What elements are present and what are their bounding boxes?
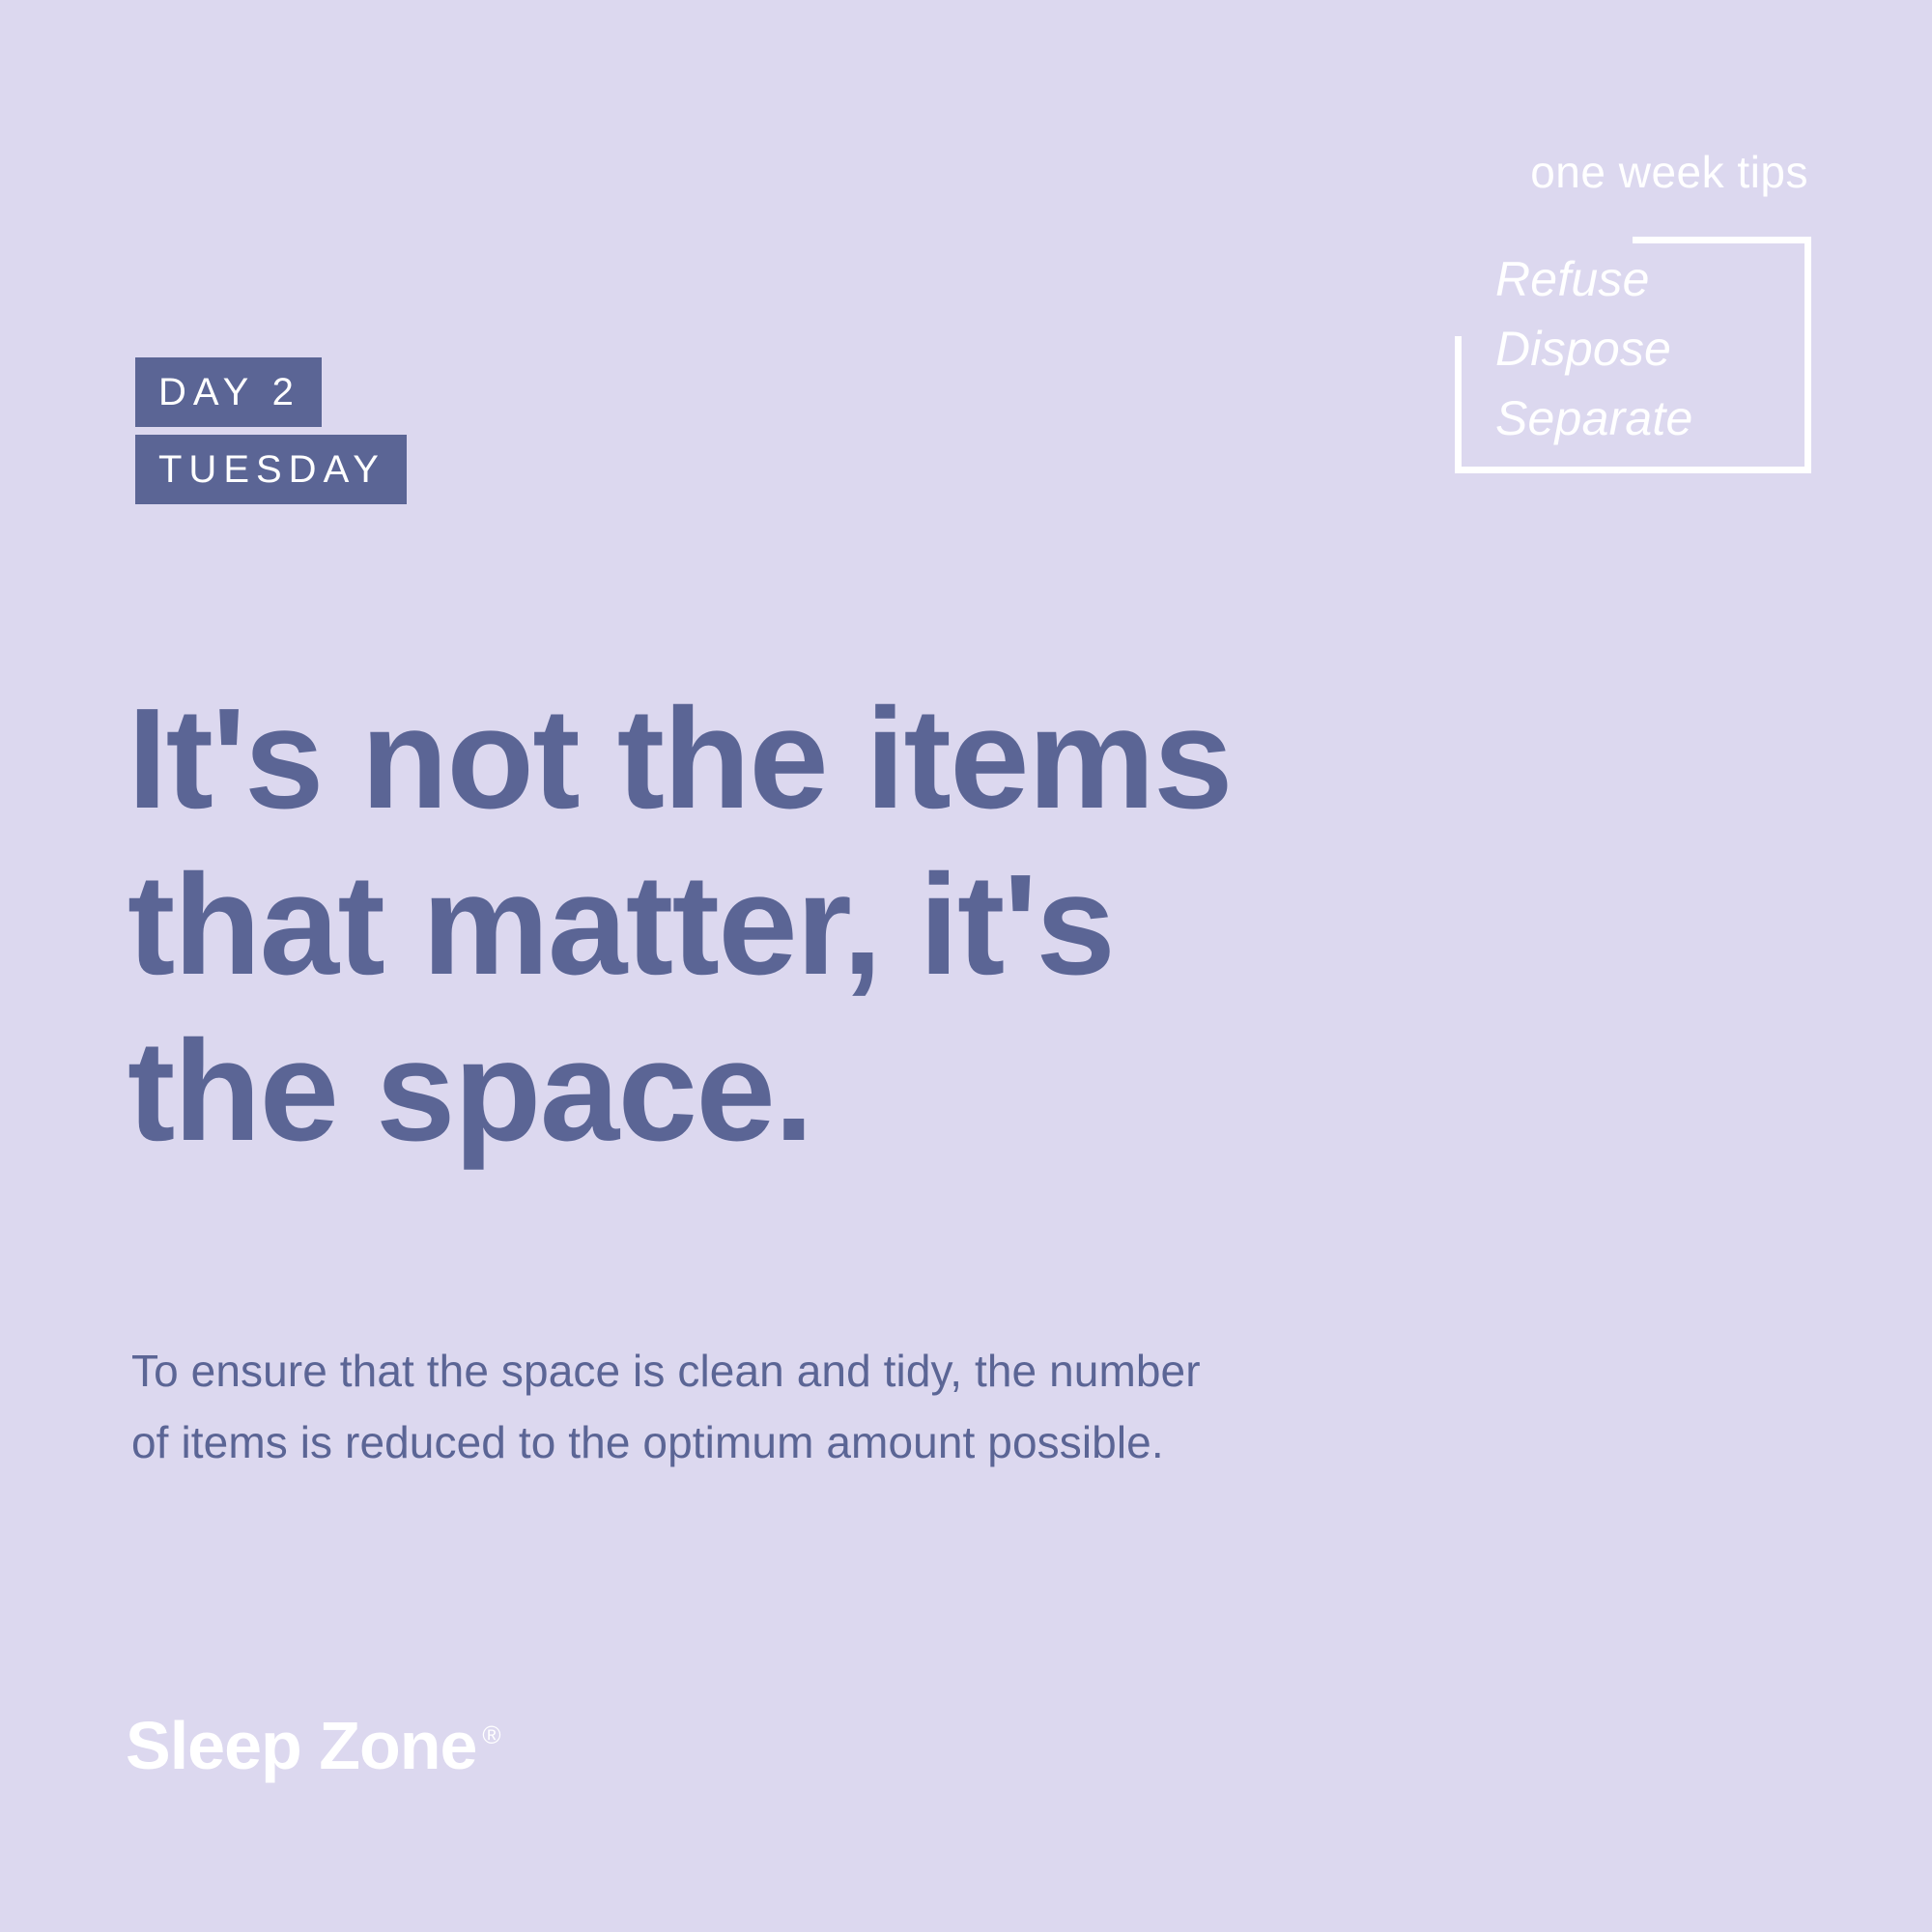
tips-list-item: Refuse [1495,244,1814,314]
headline-line: the space. [128,1009,1577,1175]
day-badge-group: DAY 2 TUESDAY [135,357,407,504]
brand-logo-wordmark: Sleep Zone [126,1708,476,1783]
tips-eyebrow-label: one week tips [1530,150,1808,194]
frame-left-border [1455,336,1462,473]
tips-list-item: Dispose [1495,314,1814,384]
day-number-badge: DAY 2 [135,357,322,427]
body-copy: To ensure that the space is clean and ti… [131,1335,1503,1478]
body-copy-line: of items is reduced to the optimum amoun… [131,1406,1503,1478]
body-copy-line: To ensure that the space is clean and ti… [131,1335,1503,1406]
tips-list: Refuse Dispose Separate [1495,244,1814,453]
headline-line: It's not the items [128,676,1577,842]
headline: It's not the items that matter, it's the… [128,676,1577,1175]
registered-trademark-icon: ® [482,1720,500,1749]
brand-logo: Sleep Zone® [126,1712,501,1779]
weekday-badge: TUESDAY [135,435,407,504]
frame-bottom-border [1455,467,1811,473]
tips-list-item: Separate [1495,384,1814,453]
poster-canvas: one week tips Refuse Dispose Separate DA… [0,0,1932,1932]
frame-top-border [1633,237,1811,243]
headline-line: that matter, it's [128,842,1577,1009]
